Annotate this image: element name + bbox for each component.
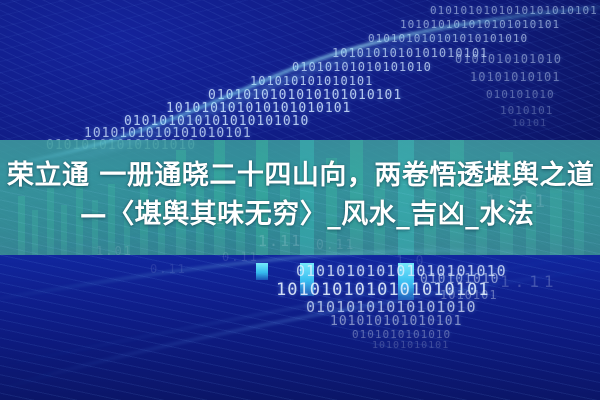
glow-curves (0, 0, 600, 400)
banner-image: 0101010101010101010101101010101010101010… (0, 0, 600, 400)
